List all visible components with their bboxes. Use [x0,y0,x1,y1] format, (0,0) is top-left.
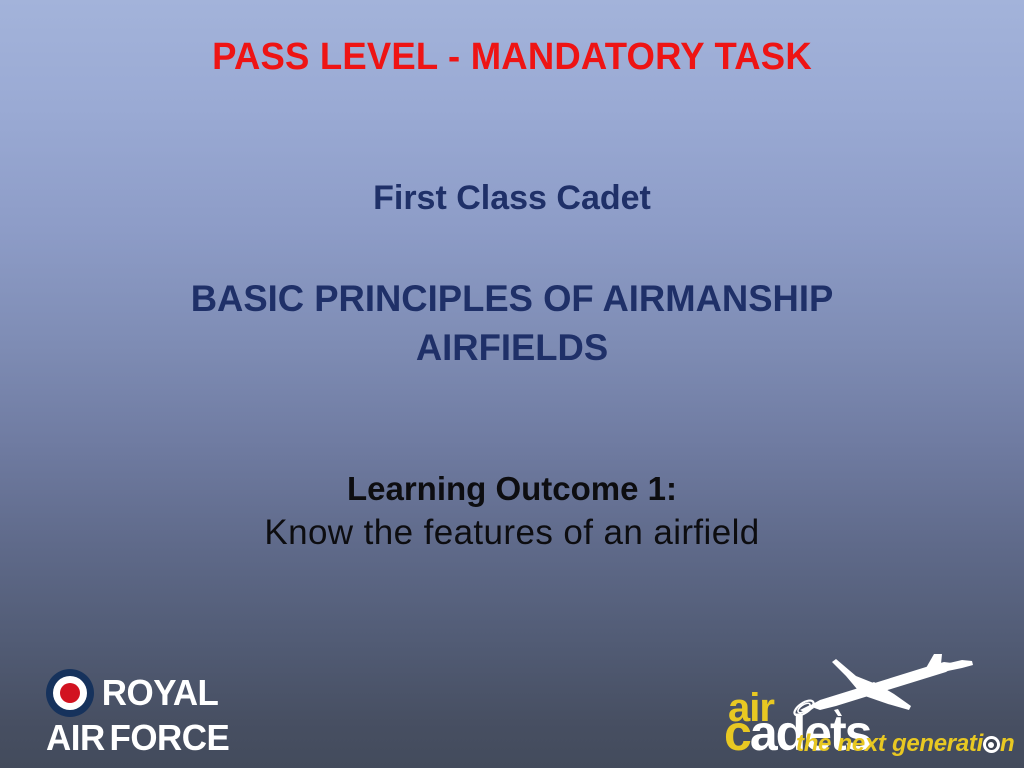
raf-logo-royal-text: ROYAL [102,675,219,711]
subject-heading: BASIC PRINCIPLES OF AIRMANSHIP AIRFIELDS [8,275,1017,373]
raf-logo-force-text: FORCE [110,717,230,758]
raf-logo-top-row: ROYAL [46,668,246,718]
learning-outcome-label: Learning Outcome 1: [0,468,1024,510]
slide-title: PASS LEVEL - MANDATORY TASK [20,38,1003,78]
air-cadets-c-letter: c [724,705,750,761]
learning-outcome-block: Learning Outcome 1: Know the features of… [0,468,1024,556]
raf-logo-bottom-row: AIRFORCE [46,720,240,756]
heading-block: First Class Cadet BASIC PRINCIPLES OF AI… [0,180,1024,373]
royal-air-force-logo: ROYAL AIRFORCE [46,668,246,754]
raf-logo-air-text: AIR [46,717,105,758]
tagline-roundel-icon [983,736,1000,753]
subject-line-1: BASIC PRINCIPLES OF AIRMANSHIP [8,275,1017,324]
cadet-level-heading: First Class Cadet [0,180,1024,217]
air-cadets-tagline: the next generatin [796,732,1014,756]
raf-roundel-icon [46,669,94,717]
tagline-text-before: the next generati [796,730,983,757]
tagline-text-after: n [1000,730,1014,757]
subject-line-2: AIRFIELDS [8,324,1017,373]
learning-outcome-text: Know the features of an airfield [0,510,1024,556]
slide-canvas: PASS LEVEL - MANDATORY TASK First Class … [0,0,1024,768]
air-cadets-logo: air cadets the next generatin [724,656,1012,760]
